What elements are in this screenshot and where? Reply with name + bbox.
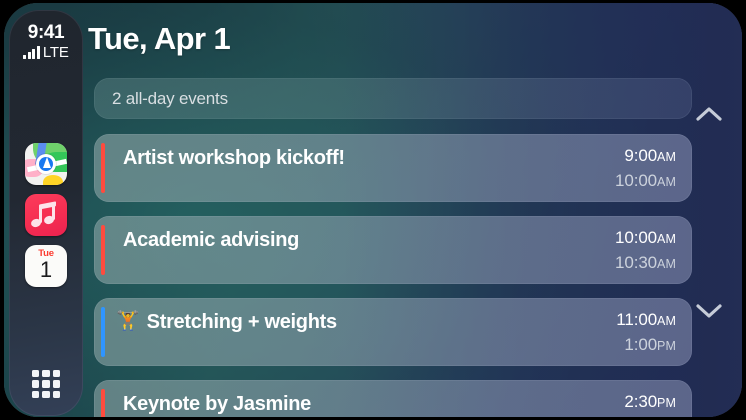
event-title: Stretching + weights [147,309,337,335]
event-times: 10:00AM 10:30AM [615,226,676,276]
event-times: 2:30PM [624,390,676,415]
event-row[interactable]: 🏋️ Stretching + weights 11:00AM 1:00PM [94,298,692,366]
sidebar-item-maps[interactable] [25,143,67,185]
page-title: Tue, Apr 1 [88,21,230,57]
event-accent-bar [101,307,105,357]
cellular-bars-icon [23,46,40,59]
all-day-events-label: 2 all-day events [112,89,228,109]
sidebar-item-music[interactable] [25,194,67,236]
event-start-meridiem: PM [657,396,676,410]
event-accent-bar [101,389,105,417]
event-row[interactable]: Academic advising 10:00AM 10:30AM [94,216,692,284]
event-end-meridiem: AM [657,175,676,189]
event-accent-bar [101,143,105,193]
event-list: Artist workshop kickoff! 9:00AM 10:00AM … [94,134,692,417]
network-label: LTE [43,46,69,59]
status-signal: LTE [23,46,68,59]
event-row[interactable]: Keynote by Jasmine 2:30PM [94,380,692,417]
event-end-time: 10:00AM [615,169,676,194]
event-title-wrap: Keynote by Jasmine [116,391,542,417]
chevron-up-icon[interactable] [692,102,726,128]
weightlifter-emoji-icon: 🏋️ [116,310,140,334]
event-start-time: 11:00AM [616,308,676,333]
event-end-meridiem: PM [657,339,676,353]
event-start-meridiem: AM [657,232,676,246]
event-end-time-value: 10:30 [615,253,657,272]
event-start-time-value: 10:00 [615,228,657,247]
sidebar: 9:41 LTE [9,10,83,416]
event-start-time: 9:00AM [615,144,676,169]
event-end-meridiem: AM [657,257,676,271]
event-accent-bar [101,225,105,275]
calendar-icon-day: 1 [40,258,52,282]
event-end-time: 10:30AM [615,251,676,276]
event-start-time-value: 2:30 [624,392,657,411]
all-day-events-banner[interactable]: 2 all-day events [94,78,692,119]
sidebar-app-stack: Tue 1 [9,143,83,287]
event-title: Keynote by Jasmine [123,391,311,417]
event-start-time-value: 11:00 [616,310,657,329]
sidebar-item-calendar[interactable]: Tue 1 [25,245,67,287]
app-grid-icon[interactable] [32,370,60,398]
event-start-time: 2:30PM [624,390,676,415]
status-clock: 9:41 [28,22,64,44]
event-end-time: 1:00PM [616,333,676,358]
event-title: Academic advising [123,227,299,253]
event-title: Artist workshop kickoff! [123,145,345,171]
event-title-wrap: Academic advising [116,227,542,253]
event-start-meridiem: AM [657,314,676,328]
event-start-meridiem: AM [657,150,676,164]
device-frame: 9:41 LTE [4,3,742,417]
carplay-screen: 9:41 LTE [0,0,746,420]
event-end-time-value: 10:00 [615,171,657,190]
status-bar: 9:41 LTE [9,22,83,59]
event-title-wrap: Artist workshop kickoff! [116,145,542,171]
event-end-time-value: 1:00 [624,335,657,354]
event-times: 11:00AM 1:00PM [616,308,676,358]
event-start-time-value: 9:00 [624,146,657,165]
event-times: 9:00AM 10:00AM [615,144,676,194]
chevron-down-icon[interactable] [692,297,726,323]
event-start-time: 10:00AM [615,226,676,251]
event-row[interactable]: Artist workshop kickoff! 9:00AM 10:00AM [94,134,692,202]
event-title-wrap: 🏋️ Stretching + weights [116,309,542,335]
